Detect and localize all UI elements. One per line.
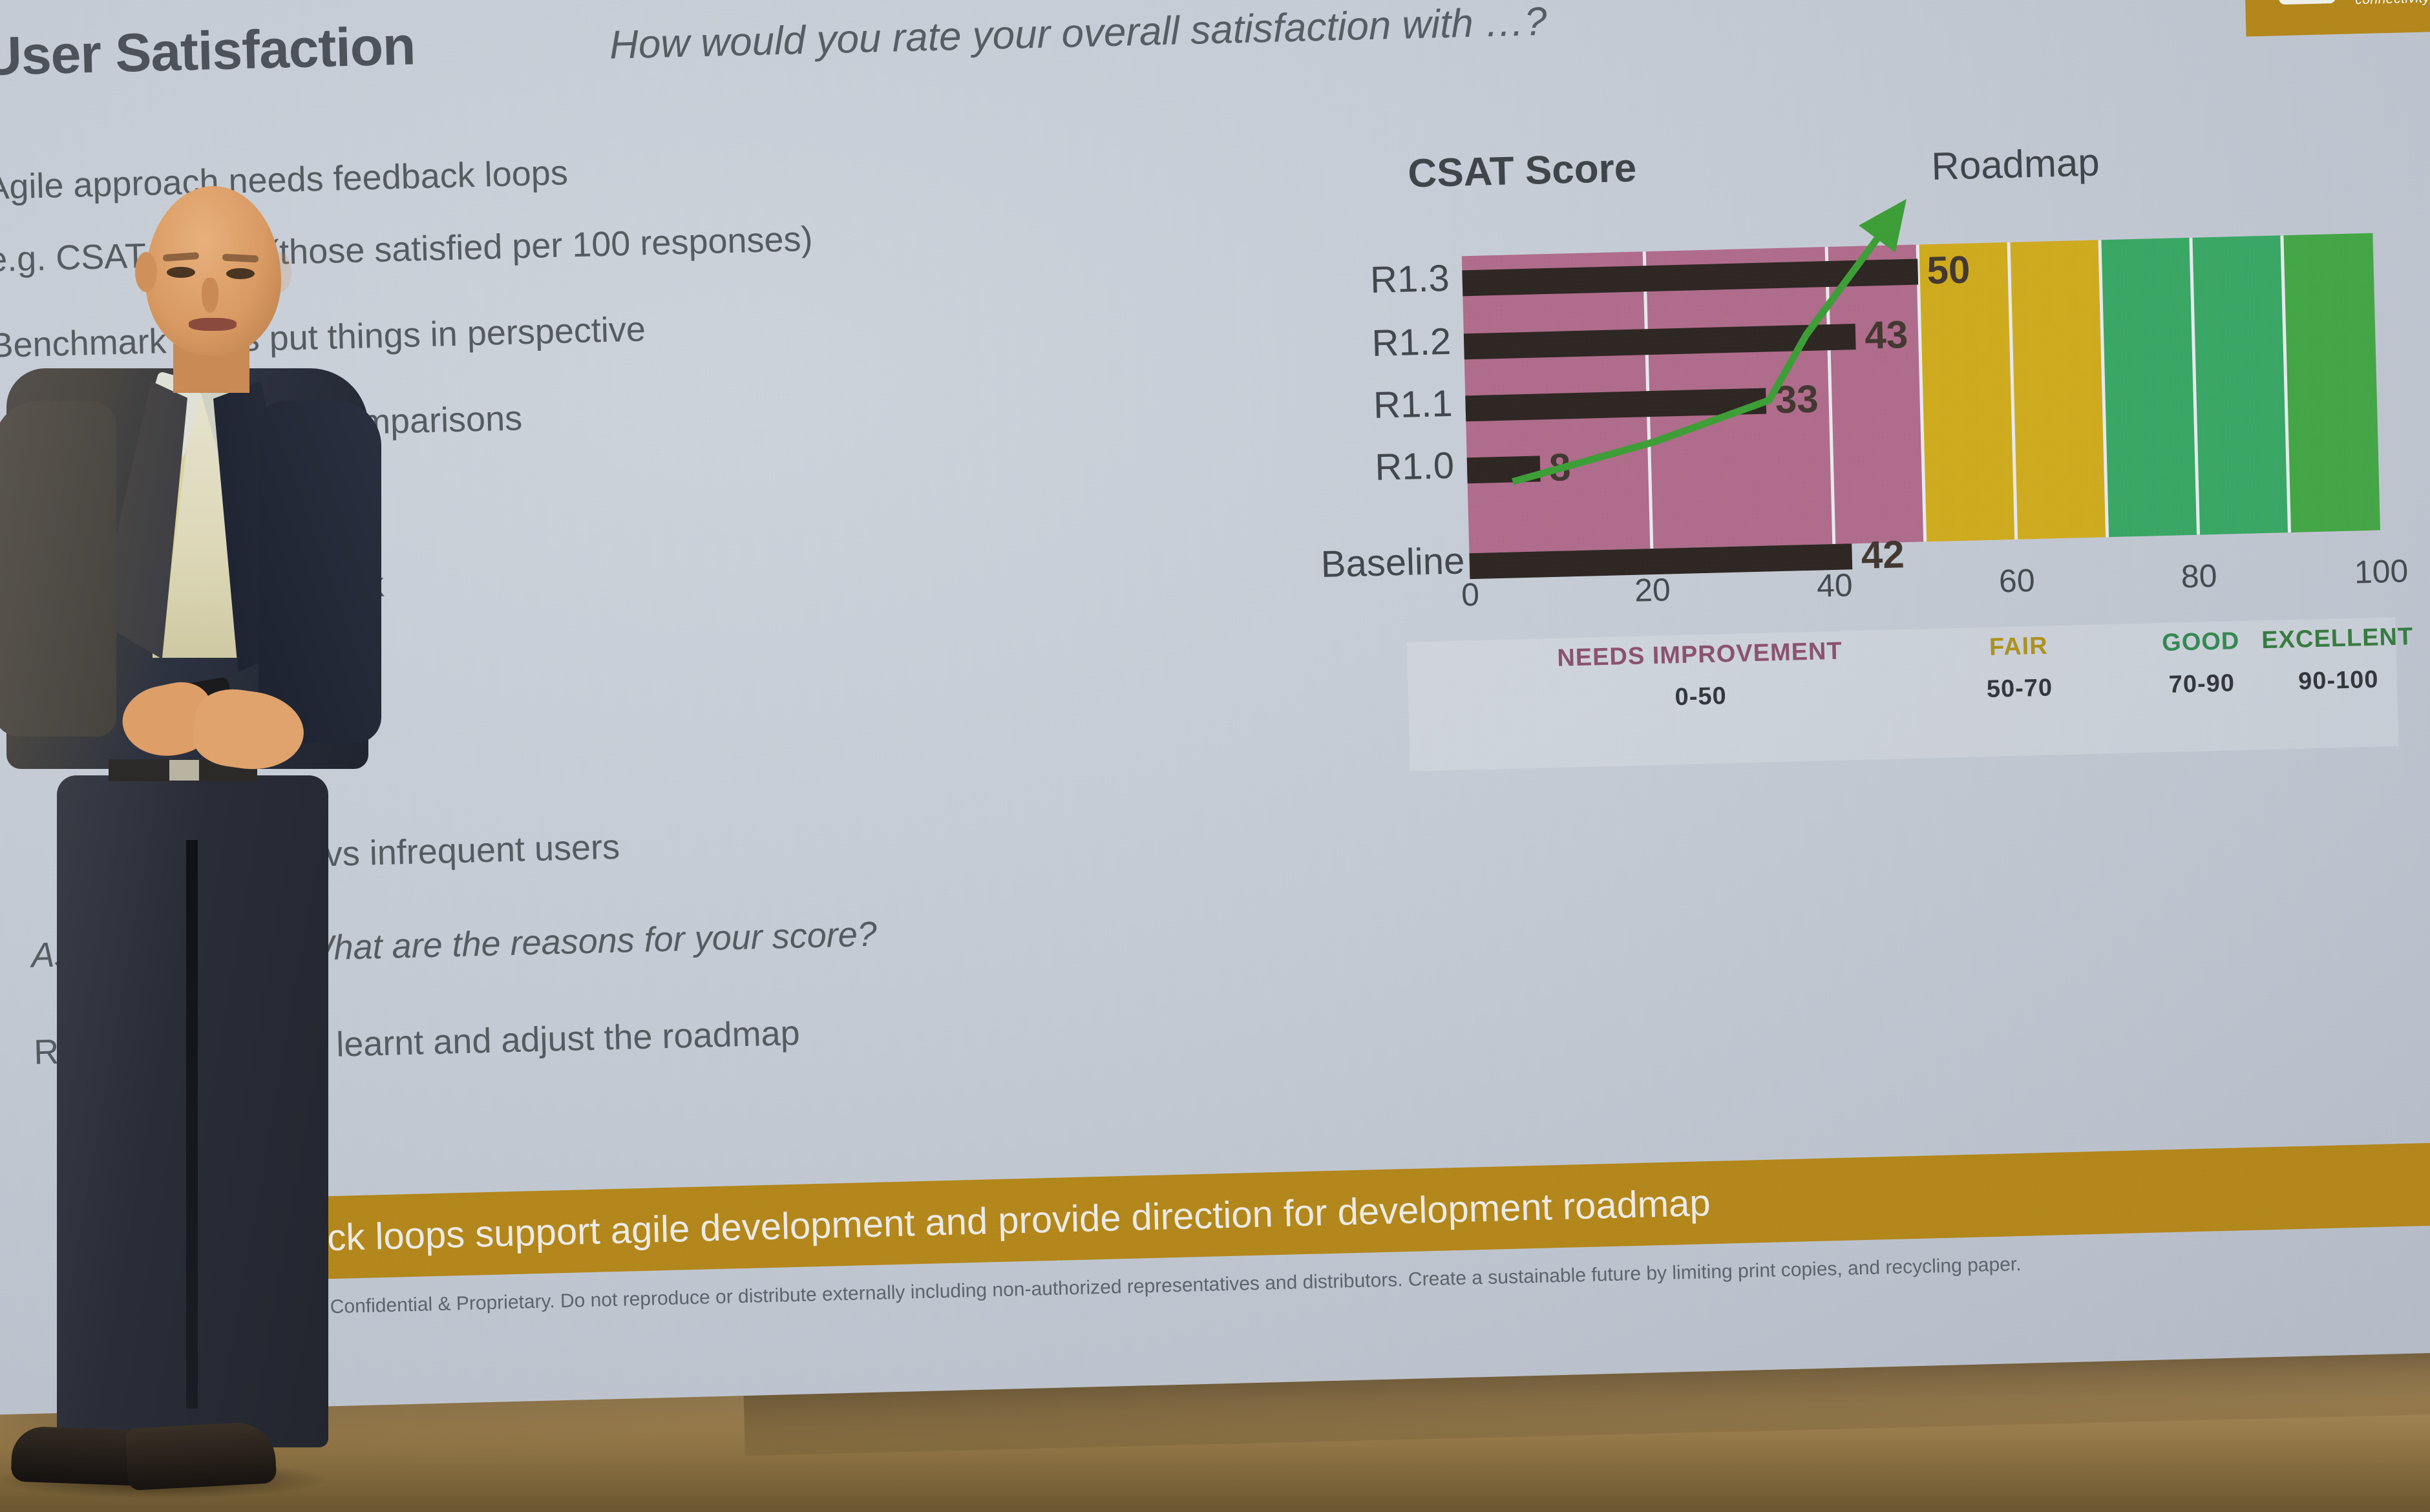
chart-legend-name: FAIR: [1985, 632, 2052, 662]
chart-legend-range: 0-50: [1558, 680, 1844, 715]
presenter-mouth: [189, 318, 237, 331]
presenter-belt-buckle: [169, 760, 199, 781]
chart-x-tick: 0: [1461, 576, 1479, 614]
chart-legend-range: 70-90: [2162, 669, 2241, 699]
chart-category-label: R1.3: [1313, 257, 1450, 303]
presenter-leg-seam: [186, 840, 198, 1409]
chart-legend-item: EXCELLENT90-100: [2261, 623, 2415, 697]
chart-category-label: R1.1: [1316, 382, 1453, 428]
presenter-arm-right: [259, 401, 381, 743]
chart-bar-value: 42: [1861, 532, 1905, 578]
chart-legend-item: FAIR50-70: [1985, 632, 2053, 704]
chart-legend-name: NEEDS IMPROVEMENT: [1557, 638, 1843, 673]
chart-band-legend: NEEDS IMPROVEMENT0-50FAIR50-70GOOD70-90E…: [1407, 617, 2399, 772]
chart-bar-value: 33: [1775, 377, 1819, 423]
csat-chart: CSAT Score Roadmap 504333842 R1.3R1.2R1.…: [1311, 125, 2430, 864]
chart-x-tick: 40: [1816, 566, 1853, 604]
chart-bar-value: 8: [1548, 445, 1571, 490]
chart-band-excellent: [2281, 233, 2380, 532]
chart-legend-name: GOOD: [2162, 627, 2240, 657]
chart-x-tick: 100: [2354, 552, 2409, 591]
chart-title: CSAT Score: [1408, 145, 1637, 197]
chart-bar-value: 43: [1865, 312, 1908, 358]
chart-plot-area: 504333842: [1462, 233, 2380, 554]
roadmap-annotation-label: Roadmap: [1931, 140, 2100, 189]
te-bars-icon: [2266, 0, 2345, 10]
presenter-person: [0, 174, 452, 1512]
chart-x-tick: 80: [2181, 557, 2217, 595]
presenter-arm-left: [0, 401, 116, 737]
chart-legend-item: GOOD70-90: [2162, 627, 2241, 699]
chart-x-tick: 20: [1634, 571, 1671, 609]
te-tagline-text: connectivity: [2355, 0, 2430, 8]
chart-category-label: Baseline: [1320, 540, 1457, 586]
slide-subtitle: How would you rate your overall satisfac…: [609, 0, 1547, 68]
presenter-eye-right: [226, 268, 255, 279]
chart-bar-value: 50: [1927, 247, 1970, 293]
chart-bar: [1467, 456, 1541, 483]
presenter-shoe-right: [11, 1426, 142, 1486]
conference-stage-photo: User Satisfaction How would you rate you…: [0, 0, 2430, 1512]
chart-legend-item: NEEDS IMPROVEMENT0-50: [1557, 638, 1844, 715]
chart-legend-name: EXCELLENT: [2261, 623, 2414, 655]
presenter-shoe-left: [125, 1421, 277, 1491]
te-wordmark: TE connectivity: [2354, 0, 2430, 8]
slide-title: User Satisfaction: [0, 14, 416, 88]
chart-x-tick: 60: [1998, 562, 2035, 600]
chart-category-label: R1.2: [1315, 320, 1452, 366]
te-connectivity-logo: TE connectivity: [2243, 0, 2430, 37]
presenter-eye-left: [167, 267, 195, 278]
chart-legend-range: 50-70: [1986, 674, 2053, 704]
presenter-ear-left: [135, 252, 157, 292]
presenter-nose: [202, 278, 218, 313]
chart-legend-range: 90-100: [2262, 665, 2414, 697]
chart-category-label: R1.0: [1318, 444, 1455, 490]
